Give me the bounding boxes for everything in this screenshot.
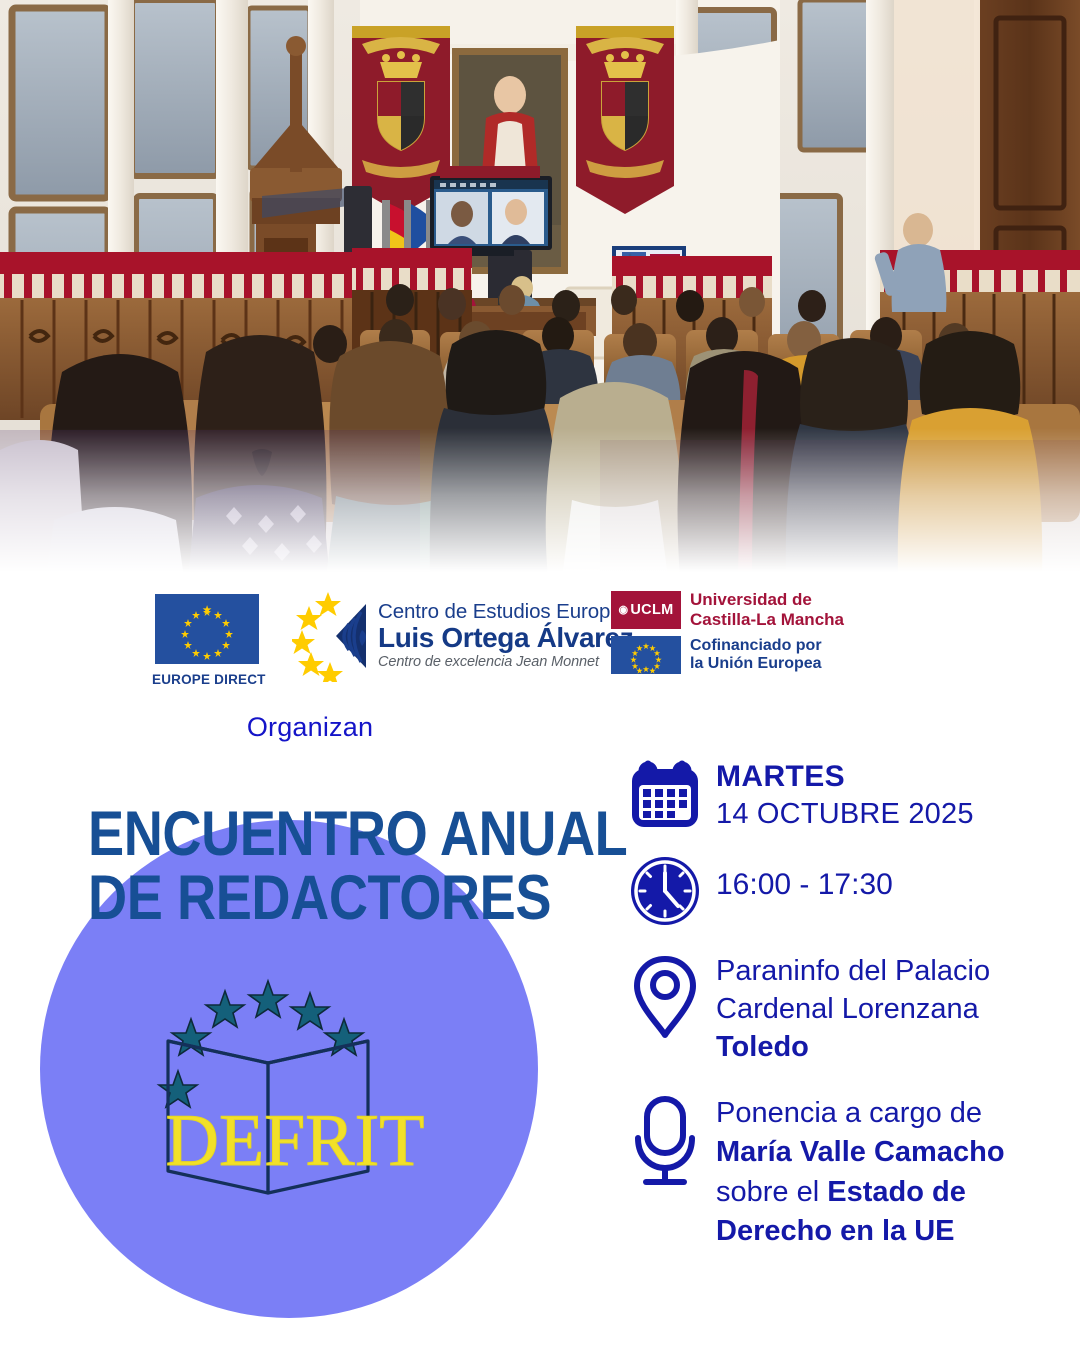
jean-monnet-mark-icon (292, 590, 372, 682)
uclm-name-line-2: Castilla-La Mancha (690, 610, 844, 630)
cofinanciado-name: Cofinanciado por la Unión Europea (690, 637, 822, 674)
cofinanciado-line-1: Cofinanciado por (690, 637, 822, 655)
uclm-name: Universidad de Castilla-La Mancha (690, 590, 844, 629)
uclm-name-line-1: Universidad de (690, 590, 844, 610)
detail-location: Paraninfo del Palacio Cardenal Lorenzana… (628, 950, 1058, 1067)
europe-direct-logo: EUROPE DIRECT (152, 594, 262, 687)
event-photo (0, 0, 1080, 578)
defrit-logo: DEFRIT (150, 975, 440, 1240)
event-date: 14 OCTUBRE 2025 (716, 796, 974, 833)
uclm-row: ◉UCLM Universidad de Castilla-La Mancha (611, 590, 844, 629)
defrit-logo-graphic: DEFRIT (150, 975, 440, 1240)
topic-bold-1: Estado de (827, 1176, 966, 1208)
detail-time: 16:00 - 17:30 (628, 852, 1058, 928)
clock-icon (628, 852, 716, 928)
ceu-line-2: Luis Ortega Álvarez (378, 624, 643, 653)
ceu-line-1: Centro de Estudios Europeos (378, 602, 643, 623)
logo-bar: EUROPE DIRECT Centro de Estudios Europeo… (0, 586, 1080, 696)
eu-flag-small-icon (611, 636, 681, 674)
eu-stars-icon (155, 594, 259, 664)
defrit-wordmark: DEFRIT (166, 1100, 425, 1182)
detail-date: MARTES 14 OCTUBRE 2025 (628, 756, 1058, 834)
organizan-label: Organizan (0, 712, 620, 743)
europe-direct-label: EUROPE DIRECT (152, 672, 262, 687)
speaker-name: María Valle Camacho (716, 1136, 1005, 1168)
location-pin-icon (628, 950, 716, 1042)
uclm-badge-icon: ◉UCLM (611, 591, 681, 629)
venue-line-2: Cardenal Lorenzana (716, 990, 990, 1028)
time-text: 16:00 - 17:30 (716, 852, 893, 904)
venue-line-1: Paraninfo del Palacio (716, 952, 990, 990)
cofinanciado-row: Cofinanciado por la Unión Europea (611, 636, 844, 674)
defrit-eu-stars-icon (159, 981, 363, 1107)
topic-bold-2: Derecho en la UE (716, 1215, 955, 1247)
event-details: MARTES 14 OCTUBRE 2025 (628, 756, 1058, 1269)
speaker-intro: Ponencia a cargo de (716, 1094, 1005, 1133)
calendar-icon (628, 756, 716, 832)
centro-estudios-europeos-logo: Centro de Estudios Europeos Luis Ortega … (292, 590, 643, 682)
ceu-text-block: Centro de Estudios Europeos Luis Ortega … (378, 602, 643, 670)
page-title: ENCUENTRO ANUAL DE REDACTORES (88, 806, 552, 928)
event-photo-illustration (0, 0, 1080, 578)
detail-speaker: Ponencia a cargo de María Valle Camacho … (628, 1092, 1058, 1251)
uclm-logo-block: ◉UCLM Universidad de Castilla-La Mancha (611, 590, 844, 674)
title-line-1: ENCUENTRO ANUAL (88, 799, 627, 869)
title-line-2: DE REDACTORES (88, 870, 552, 928)
speaker-text: Ponencia a cargo de María Valle Camacho … (716, 1092, 1005, 1251)
topic-prefix: sobre el (716, 1176, 827, 1208)
eu-flag-icon (155, 594, 259, 664)
uclm-badge-text: UCLM (630, 602, 673, 618)
eu-stars-small-icon (611, 636, 681, 674)
ceu-line-3: Centro de excelencia Jean Monnet (378, 655, 643, 670)
microphone-icon (628, 1092, 716, 1190)
event-day: MARTES (716, 758, 974, 796)
cofinanciado-line-2: la Unión Europea (690, 655, 822, 673)
location-text: Paraninfo del Palacio Cardenal Lorenzana… (716, 950, 990, 1067)
date-text: MARTES 14 OCTUBRE 2025 (716, 756, 974, 834)
venue-city: Toledo (716, 1031, 809, 1063)
